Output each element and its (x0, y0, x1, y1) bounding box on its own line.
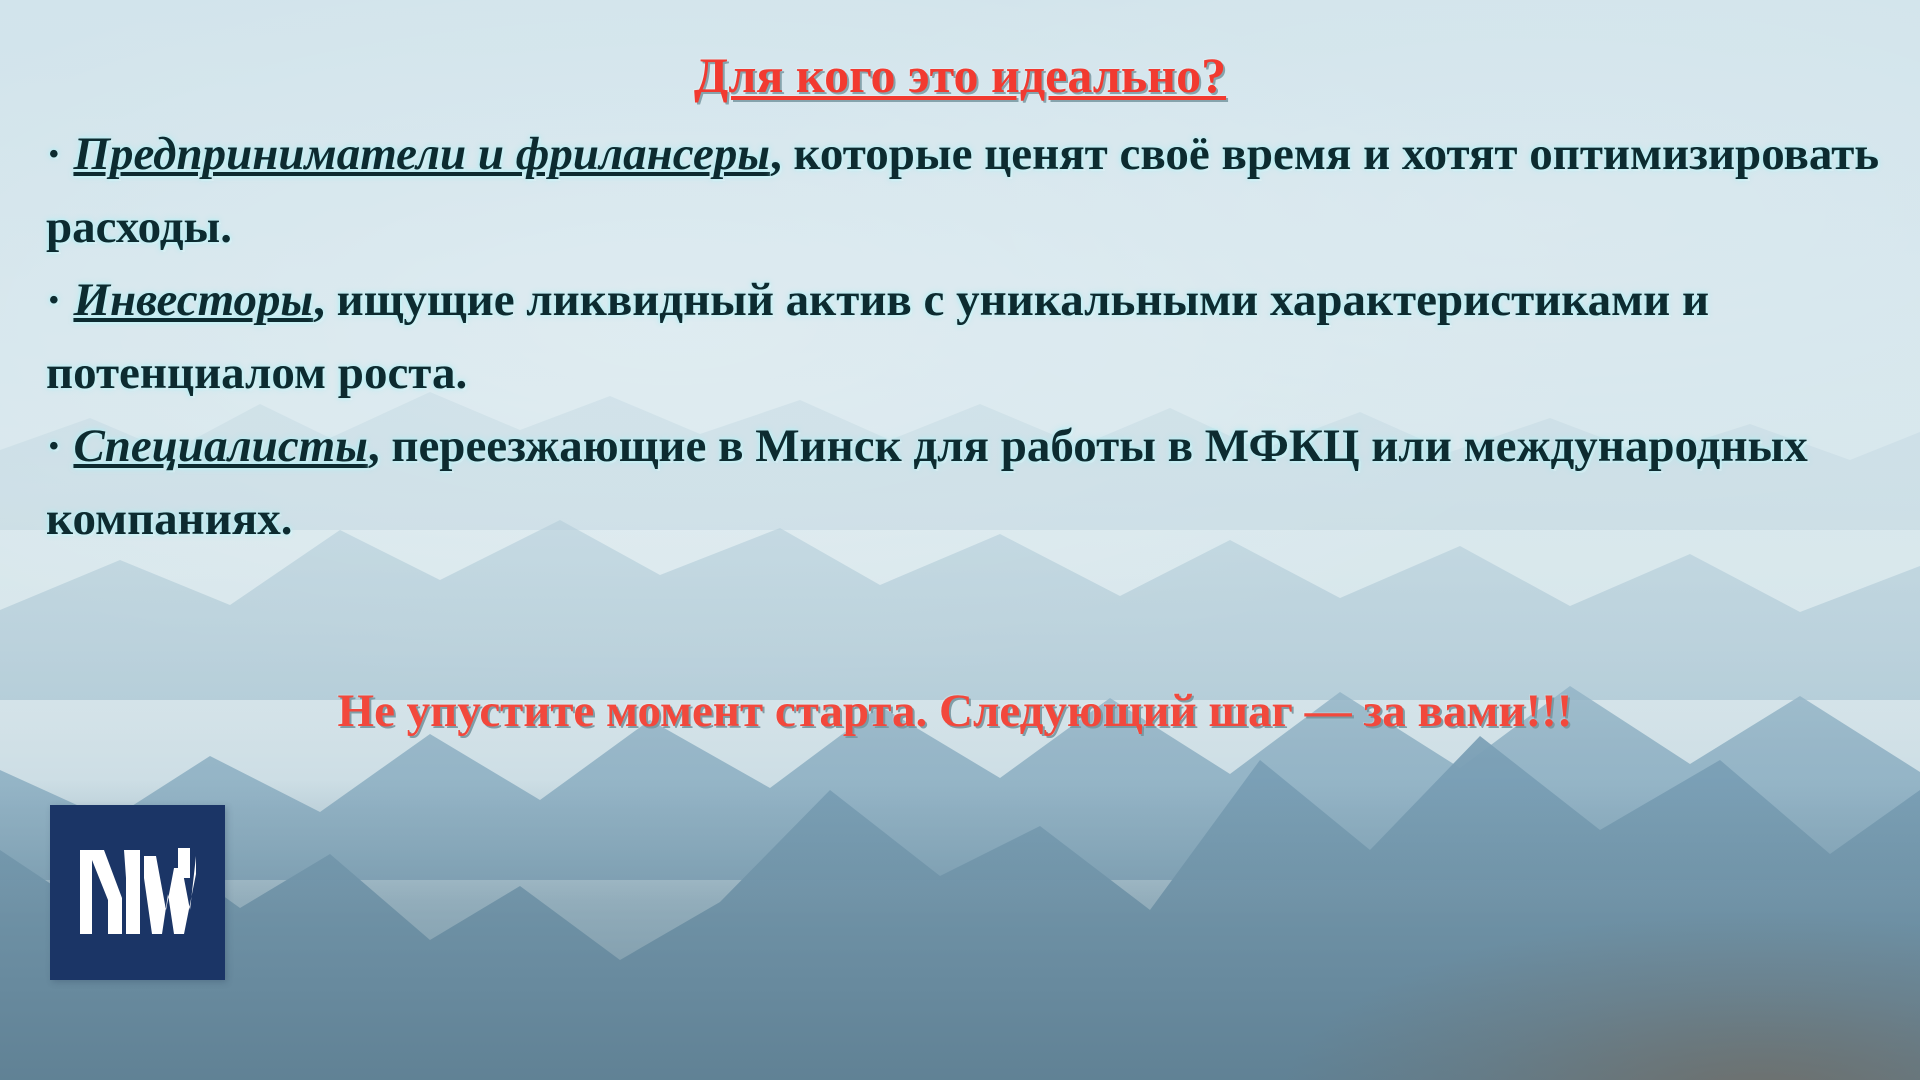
list-item: · Специалисты, переезжающие в Минск для … (46, 410, 1886, 556)
call-to-action-text: Не упустите момент старта. Следующий шаг… (0, 684, 1920, 738)
bullet-lead-text: Инвесторы (73, 274, 313, 326)
bullet-marker: · (46, 274, 73, 326)
brand-logo (50, 805, 225, 980)
list-item: · Предприниматели и фрилансеры, которые … (46, 118, 1886, 264)
bullet-marker: · (46, 128, 73, 180)
slide-content: Для кого это идеально? · Предприниматели… (0, 0, 1920, 1080)
mw-monogram-icon (78, 838, 198, 948)
bullet-lead-text: Специалисты (73, 420, 367, 472)
bullet-marker: · (46, 420, 73, 472)
bullet-list: · Предприниматели и фрилансеры, которые … (46, 118, 1886, 556)
slide-canvas: Для кого это идеально? · Предприниматели… (0, 0, 1920, 1080)
list-item: · Инвесторы, ищущие ликвидный актив с ун… (46, 264, 1886, 410)
bullet-lead-text: Предприниматели и фрилансеры (73, 128, 770, 180)
page-title: Для кого это идеально? (0, 46, 1920, 104)
